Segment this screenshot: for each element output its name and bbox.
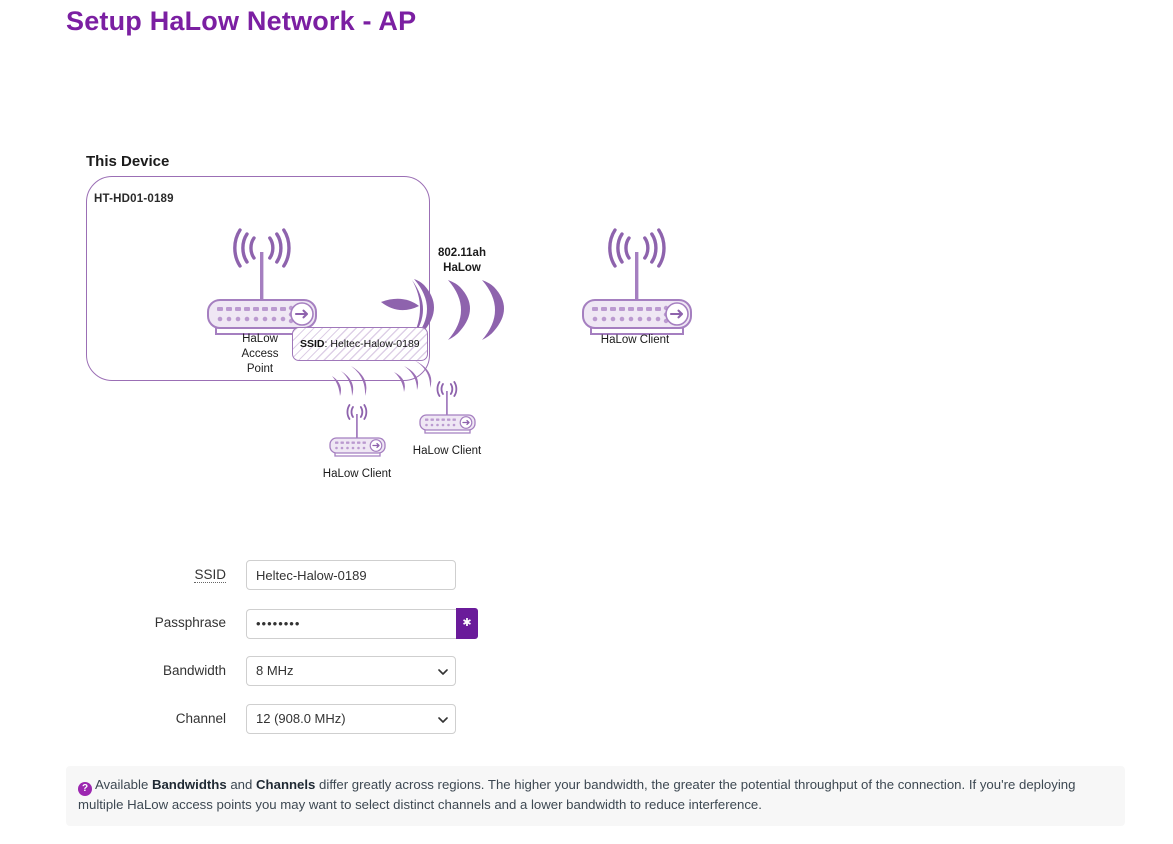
bandwidth-select[interactable]: 1 MHz2 MHz4 MHz8 MHz xyxy=(246,656,456,686)
passphrase-field-group: ✱ xyxy=(246,608,478,639)
note-bold-1: Bandwidths xyxy=(152,777,227,792)
halow-client-icon-bottom-middle xyxy=(420,382,475,433)
channel-select[interactable]: 12 (908.0 MHz) xyxy=(246,704,456,734)
bandwidth-label: Bandwidth xyxy=(0,656,246,686)
reveal-passphrase-button[interactable]: ✱ xyxy=(456,608,478,639)
passphrase-input[interactable] xyxy=(246,609,456,639)
channel-select-wrap: 12 (908.0 MHz) xyxy=(246,704,456,734)
form-row-passphrase: Passphrase ✱ xyxy=(0,608,1173,656)
halow-signal-waves-bottom xyxy=(332,360,431,396)
ssid-badge: SSID: Heltec-Halow-0189 xyxy=(292,327,428,361)
ssid-input[interactable] xyxy=(246,560,456,590)
form-row-ssid: SSID xyxy=(0,560,1173,608)
passphrase-label: Passphrase xyxy=(0,608,246,638)
bandwidth-select-wrap: 1 MHz2 MHz4 MHz8 MHz xyxy=(246,656,456,686)
ssid-badge-value: Heltec-Halow-0189 xyxy=(330,338,419,350)
form-row-channel: Channel 12 (908.0 MHz) xyxy=(0,704,1173,752)
ssid-label: SSID xyxy=(0,560,246,590)
page-title: Setup HaLow Network - AP xyxy=(66,6,416,37)
client-label-bottom-middle: HaLow Client xyxy=(387,444,507,459)
setup-halow-network-page: Setup HaLow Network - AP This Device HT-… xyxy=(0,0,1173,844)
note-bold-2: Channels xyxy=(256,777,315,792)
halow-settings-form: SSID Passphrase ✱ Bandwidth 1 MHz2 MHz4 … xyxy=(0,560,1173,752)
ap-label: HaLow Access Point xyxy=(216,332,304,377)
note-text-1: Available xyxy=(95,777,152,792)
ssid-label-text: SSID xyxy=(194,567,226,583)
diagram-graphics xyxy=(0,140,1173,500)
halow-client-icon-right xyxy=(583,230,691,334)
note-text-2: and xyxy=(227,777,256,792)
channel-label: Channel xyxy=(0,704,246,734)
help-note: ?Available Bandwidths and Channels diffe… xyxy=(66,766,1125,826)
question-mark-icon: ? xyxy=(78,782,92,796)
client-label-bottom-left: HaLow Client xyxy=(297,467,417,482)
halow-client-icon-bottom-left xyxy=(330,405,385,456)
link-protocol-label: 802.11ah HaLow xyxy=(412,246,512,276)
network-topology-diagram: This Device HT-HD01-0189 xyxy=(0,140,1173,500)
halow-access-point-icon xyxy=(208,230,316,334)
client-label-right: HaLow Client xyxy=(575,333,695,348)
form-row-bandwidth: Bandwidth 1 MHz2 MHz4 MHz8 MHz xyxy=(0,656,1173,704)
